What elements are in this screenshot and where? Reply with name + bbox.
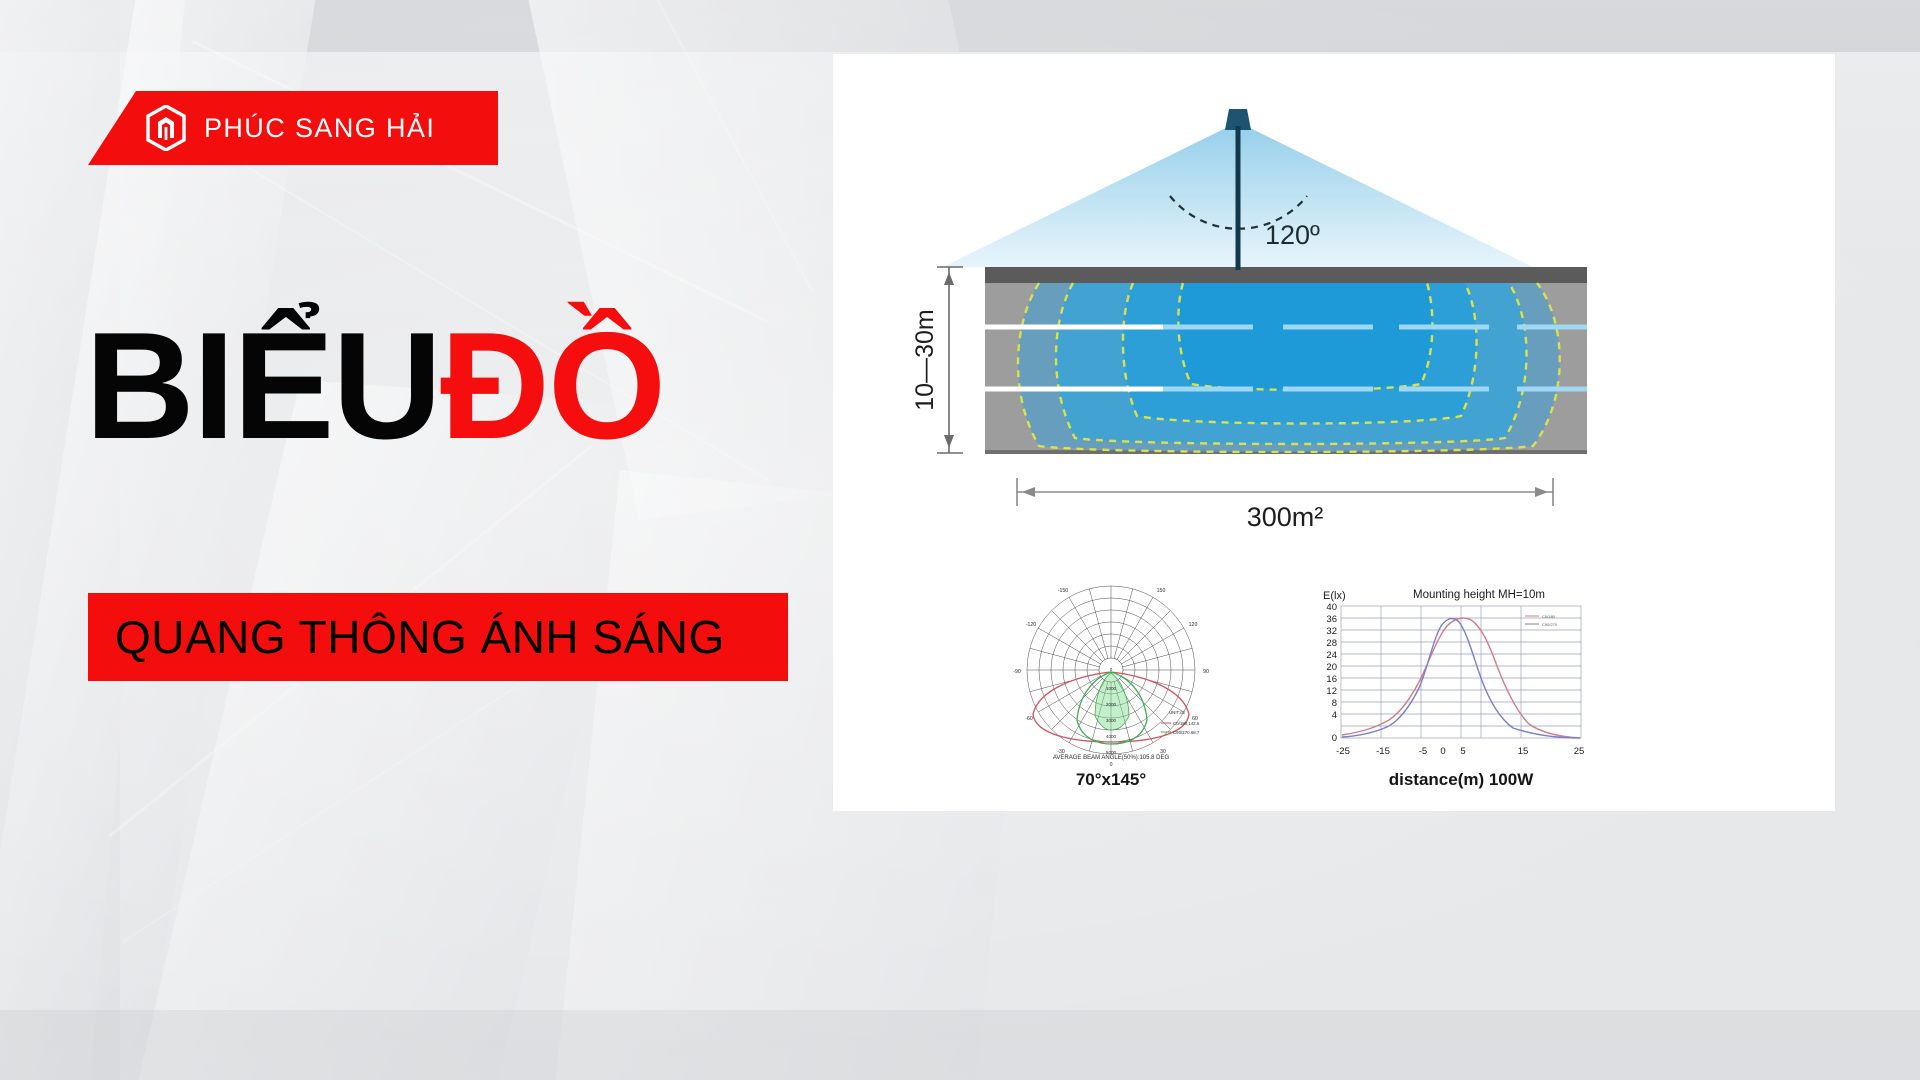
svg-text:-25: -25 bbox=[1336, 746, 1350, 757]
svg-text:UNIT:cd: UNIT:cd bbox=[1169, 710, 1185, 715]
svg-text:24: 24 bbox=[1326, 650, 1337, 661]
svg-text:36: 36 bbox=[1326, 614, 1337, 625]
svg-text:8: 8 bbox=[1332, 698, 1337, 709]
svg-text:-90: -90 bbox=[1013, 669, 1021, 675]
svg-text:C0/180: C0/180 bbox=[1542, 614, 1556, 619]
svg-text:150: 150 bbox=[1157, 588, 1166, 594]
svg-text:120: 120 bbox=[1189, 622, 1198, 628]
svg-text:-60: -60 bbox=[1025, 716, 1033, 722]
svg-text:90: 90 bbox=[1203, 669, 1209, 675]
subtitle-banner: QUANG THÔNG ÁNH SÁNG bbox=[88, 593, 788, 681]
svg-text:-120: -120 bbox=[1026, 622, 1036, 628]
specification-panel: 120º 10—30m 300m² bbox=[833, 54, 1835, 811]
svg-text:40: 40 bbox=[1326, 602, 1337, 613]
svg-text:C90/270,68.7: C90/270,68.7 bbox=[1173, 730, 1200, 735]
svg-text:3000: 3000 bbox=[1106, 718, 1117, 723]
photometry-charts: -/+180 -150 150 -120 120 -90 90 -60 60 -… bbox=[961, 582, 1621, 802]
svg-text:28: 28 bbox=[1326, 638, 1337, 649]
illuminance-pools bbox=[985, 283, 1587, 452]
svg-text:12: 12 bbox=[1326, 686, 1337, 697]
subtitle-text: QUANG THÔNG ÁNH SÁNG bbox=[115, 610, 725, 664]
hexagon-m-logo-icon bbox=[146, 105, 186, 151]
svg-text:C0/180,142.6: C0/180,142.6 bbox=[1173, 721, 1200, 726]
svg-text:C90/270: C90/270 bbox=[1542, 622, 1558, 627]
polar-footer-text: AVERAGE BEAM ANGLE(50%):105.8 DEG bbox=[1053, 755, 1170, 761]
svg-text:-5: -5 bbox=[1419, 746, 1427, 757]
coverage-area-label: 300m² bbox=[1247, 502, 1324, 532]
lux-chart-title: Mounting height MH=10m bbox=[1413, 589, 1545, 601]
svg-text:4: 4 bbox=[1332, 710, 1337, 721]
svg-text:5: 5 bbox=[1460, 746, 1465, 757]
beam-coverage-diagram: 120º 10—30m 300m² bbox=[833, 54, 1835, 554]
svg-text:2000: 2000 bbox=[1106, 702, 1117, 707]
svg-text:20: 20 bbox=[1326, 662, 1337, 673]
page-title: BIỂU ĐỒ bbox=[85, 318, 664, 455]
svg-text:0: 0 bbox=[1110, 762, 1113, 767]
svg-text:32: 32 bbox=[1326, 626, 1337, 637]
polar-chart-caption: 70°x145° bbox=[961, 770, 1261, 790]
title-word-dark: BIỂU bbox=[85, 318, 440, 455]
height-dimension bbox=[937, 267, 963, 453]
svg-text:-150: -150 bbox=[1058, 588, 1068, 594]
polar-light-distribution-chart: -/+180 -150 150 -120 120 -90 90 -60 60 -… bbox=[961, 582, 1261, 772]
svg-text:15: 15 bbox=[1518, 746, 1529, 757]
svg-text:0: 0 bbox=[1440, 746, 1445, 757]
title-word-red: ĐỒ bbox=[440, 318, 664, 455]
brand-banner: PHÚC SANG HẢI bbox=[88, 91, 498, 165]
svg-text:0: 0 bbox=[1332, 733, 1337, 744]
svg-text:-15: -15 bbox=[1376, 746, 1390, 757]
svg-text:16: 16 bbox=[1326, 674, 1337, 685]
illuminance-curve-chart: E(lx) Mounting height MH=10m bbox=[1301, 582, 1621, 772]
svg-text:0: 0 bbox=[1110, 667, 1113, 672]
svg-text:1000: 1000 bbox=[1106, 686, 1117, 691]
brand-name: PHÚC SANG HẢI bbox=[204, 113, 435, 144]
svg-text:4000: 4000 bbox=[1106, 734, 1117, 739]
lux-ylabel: E(lx) bbox=[1323, 590, 1346, 602]
beam-angle-label: 120º bbox=[1265, 220, 1320, 250]
svg-text:25: 25 bbox=[1574, 746, 1585, 757]
lux-chart-caption: distance(m) 100W bbox=[1301, 770, 1621, 790]
mounting-height-label: 10—30m bbox=[911, 309, 939, 410]
